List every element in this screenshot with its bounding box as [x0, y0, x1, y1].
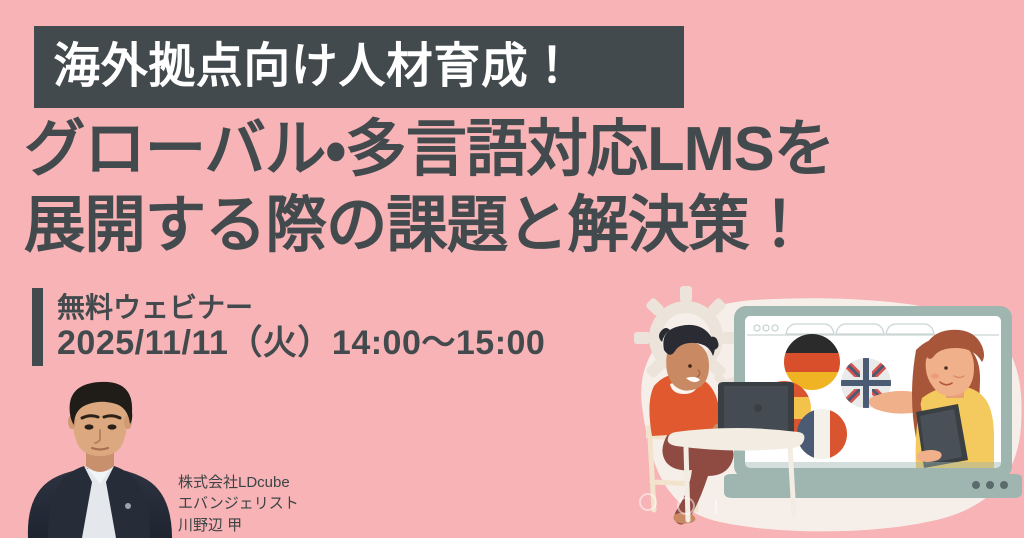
eyebrow-text: 海外拠点向け人材育成！	[34, 43, 576, 91]
speaker-portrait-photo	[18, 378, 183, 538]
event-datetime: 2025/11/11（火）14:00〜15:00	[57, 324, 545, 362]
eyebrow-band: 海外拠点向け人材育成！	[34, 26, 684, 108]
speaker-name: 川野辺 甲	[178, 515, 299, 536]
page-title: グローバル・多言語対応LMSを 展開する際の課題と解決策！	[24, 112, 984, 263]
base-dot	[986, 481, 994, 489]
accent-bar	[32, 288, 43, 366]
speaker-credits: 株式会社LDcube エバンジェリスト 川野辺 甲	[178, 472, 299, 536]
base-dot	[972, 481, 980, 489]
event-schedule-texts: 無料ウェビナー 2025/11/11（火）14:00〜15:00	[57, 288, 545, 366]
webinar-promo-banner: 海外拠点向け人材育成！ グローバル・多言語対応LMSを 展開する際の課題と解決策…	[0, 0, 1024, 538]
base-dot	[1000, 481, 1008, 489]
event-type-label: 無料ウェビナー	[57, 292, 545, 324]
speaker-role: エバンジェリスト	[178, 493, 299, 514]
monitor-base	[724, 474, 1022, 498]
speaker-company: 株式会社LDcube	[178, 472, 299, 493]
global-multilingual-learning-illustration	[624, 286, 1024, 538]
headline-line-1: グローバル・多言語対応LMSを	[24, 112, 974, 188]
lapel-pin	[125, 503, 131, 509]
event-schedule: 無料ウェビナー 2025/11/11（火）14:00〜15:00	[32, 288, 545, 366]
headline-line-2: 展開する際の課題と解決策！	[24, 188, 974, 264]
flag-france-icon	[797, 409, 847, 459]
